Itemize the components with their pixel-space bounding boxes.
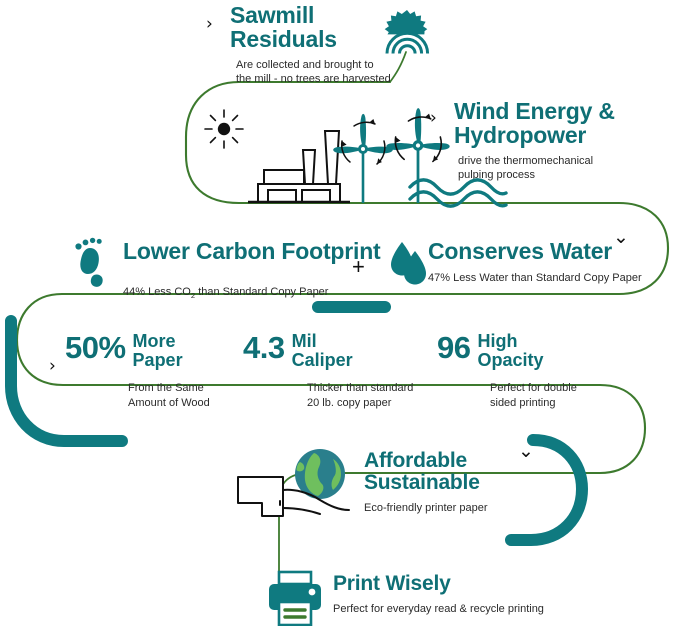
print-wisely-subtitle: Perfect for everyday read & recycle prin… xyxy=(333,602,544,617)
sawmill-subtitle: Are collected and brought to the mill - … xyxy=(236,58,391,87)
step-lower-carbon-footprint: Lower Carbon Footprint 44% Less CO2 than… xyxy=(123,240,381,302)
printer-icon xyxy=(264,570,326,626)
conserves-water-subtitle: 47% Less Water than Standard Copy Paper xyxy=(428,271,642,286)
stat-mil-caliper: 4.3 Mil Caliper Thicker than standard 20… xyxy=(243,332,413,410)
print-wisely-title: Print Wisely xyxy=(333,573,544,595)
stat-detail-mil-caliper: Thicker than standard 20 lb. copy paper xyxy=(307,381,413,410)
co2-text-pre: 44% Less CO xyxy=(123,286,191,298)
chevron-right-icon-sawmill[interactable]: › xyxy=(206,16,213,33)
path-sawmill-stem xyxy=(390,52,406,82)
water-waves-icon xyxy=(406,178,510,208)
stat-more-paper: 50% More Paper From the Same Amount of W… xyxy=(65,332,210,410)
stat-high-opacity: 96 High Opacity Perfect for double sided… xyxy=(437,332,577,410)
stat-number-high-opacity: 96 xyxy=(437,332,470,363)
affordable-sustainable-subtitle: Eco-friendly printer paper xyxy=(364,501,488,516)
stat-detail-more-paper: From the Same Amount of Wood xyxy=(128,381,210,410)
step-conserves-water: Conserves Water 47% Less Water than Stan… xyxy=(428,240,642,285)
step-affordable-sustainable: Affordable Sustainable Eco-friendly prin… xyxy=(364,450,488,515)
affordable-sustainable-title: Affordable Sustainable xyxy=(364,450,488,494)
conserves-water-title: Conserves Water xyxy=(428,240,642,264)
co2-text-post: than Standard Copy Paper xyxy=(195,286,328,298)
water-droplets-icon xyxy=(386,240,430,288)
chevron-down-icon-water[interactable]: ⌄ xyxy=(613,228,629,247)
lower-carbon-footprint-title: Lower Carbon Footprint xyxy=(123,240,381,264)
chevron-right-icon-stats[interactable]: › xyxy=(49,358,56,375)
lower-carbon-footprint-subtitle: 44% Less CO2 than Standard Copy Paper xyxy=(123,271,381,302)
flow-path-layer xyxy=(0,0,679,628)
chevron-down-icon-affordable[interactable]: ⌄ xyxy=(518,442,534,461)
sawmill-title: Sawmill Residuals xyxy=(230,4,391,52)
stat-number-more-paper: 50% xyxy=(65,332,126,363)
footprint-icon xyxy=(62,236,114,288)
step-wind-energy: › Wind Energy & Hydropower drive the the… xyxy=(430,100,615,183)
stat-number-mil-caliper: 4.3 xyxy=(243,332,285,363)
globe-in-hand-icon xyxy=(236,448,360,522)
stat-label-high-opacity: High Opacity xyxy=(477,332,543,370)
circular-saw-blade-icon xyxy=(382,8,432,56)
stat-label-mil-caliper: Mil Caliper xyxy=(292,332,353,370)
plus-separator: + xyxy=(352,256,365,278)
stat-label-more-paper: More Paper xyxy=(133,332,183,370)
stat-detail-high-opacity: Perfect for double sided printing xyxy=(490,381,577,410)
step-print-wisely: Print Wisely Perfect for everyday read &… xyxy=(333,573,544,616)
step-sawmill-residuals: › Sawmill Residuals Are collected and br… xyxy=(206,4,391,87)
wind-energy-title: Wind Energy & Hydropower xyxy=(454,100,615,148)
sun-icon xyxy=(202,107,246,151)
infographic-canvas: › Sawmill Residuals Are collected and br… xyxy=(0,0,679,628)
